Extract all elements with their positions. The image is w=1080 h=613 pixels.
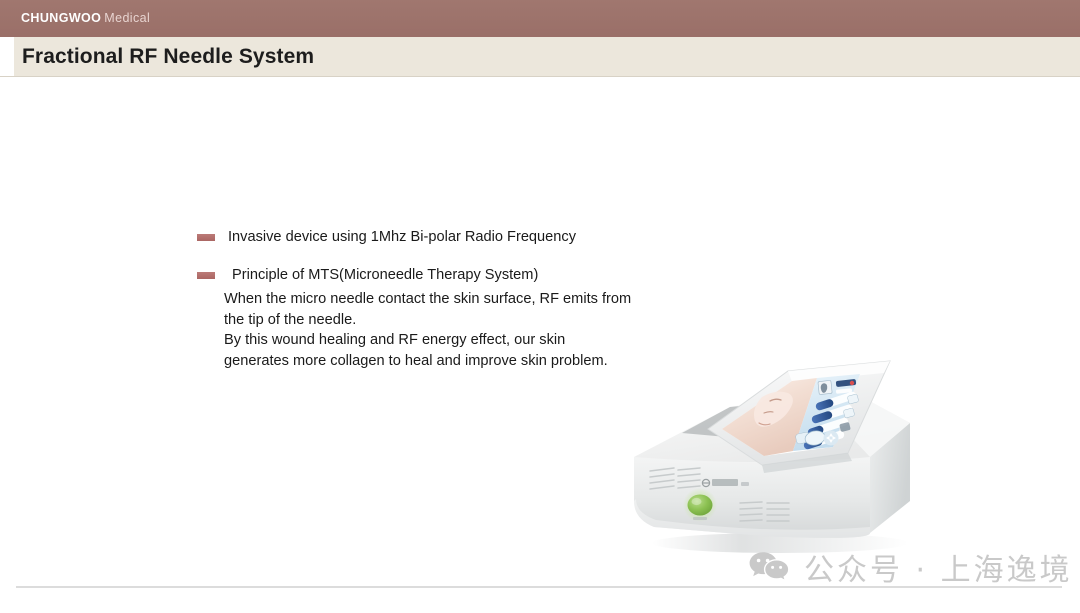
bullet-heading: Principle of MTS(Microneedle Therapy Sys… <box>232 265 637 286</box>
page-title: Fractional RF Needle System <box>22 45 314 69</box>
bullet-list: Invasive device using 1Mhz Bi-polar Radi… <box>197 227 637 388</box>
bullet-detail-line: By this wound healing and RF energy effe… <box>224 330 637 351</box>
title-band-left-edge <box>0 37 14 77</box>
watermark: 公众号 · 上海逸境 <box>748 545 1073 589</box>
bullet-item-2: Principle of MTS(Microneedle Therapy Sys… <box>197 265 637 371</box>
brand-name-primary: CHUNGWOO <box>21 11 101 25</box>
brand-name-secondary: Medical <box>104 11 150 25</box>
power-button-highlight <box>692 498 702 505</box>
bullet-marker-icon <box>197 234 215 241</box>
power-button-label <box>693 517 707 520</box>
device-illustration-svg <box>612 305 932 565</box>
power-button[interactable] <box>688 495 713 516</box>
screen-dpad-button[interactable] <box>824 431 839 446</box>
bullet-marker-icon <box>197 272 215 279</box>
bullet-detail-text: When the micro needle contact the skin s… <box>224 289 637 371</box>
bullet-detail-line: the tip of the needle. <box>224 310 637 331</box>
brand-header-bar: CHUNGWOOMedical <box>0 0 1080 37</box>
bullet-heading: Invasive device using 1Mhz Bi-polar Radi… <box>228 227 637 248</box>
watermark-text: 公众号 · 上海逸境 <box>804 545 1073 589</box>
bullet-detail-line: When the micro needle contact the skin s… <box>224 289 637 310</box>
slide-content-area: Invasive device using 1Mhz Bi-polar Radi… <box>0 77 1080 577</box>
brand-logo: CHUNGWOOMedical <box>21 11 150 25</box>
screen-status-indicator <box>850 381 854 385</box>
bullet-item-1: Invasive device using 1Mhz Bi-polar Radi… <box>197 227 637 248</box>
bullet-detail-line: generates more collagen to heal and impr… <box>224 351 637 372</box>
wechat-icon <box>748 550 790 584</box>
device-product-image <box>612 305 932 565</box>
